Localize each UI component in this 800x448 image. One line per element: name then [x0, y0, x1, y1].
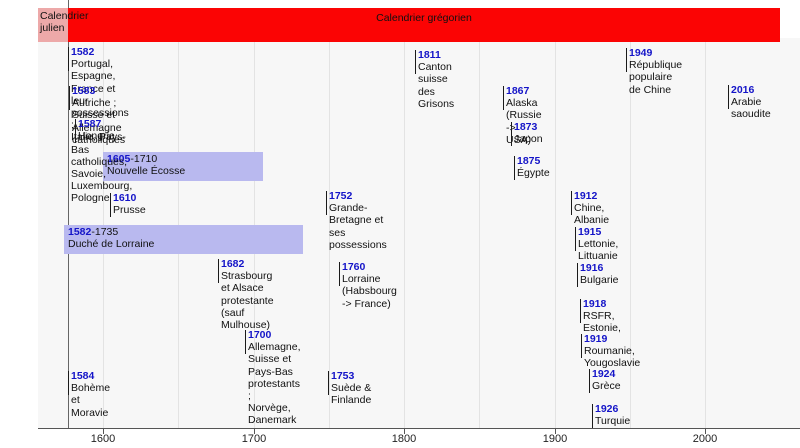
x-axis-line — [38, 428, 800, 429]
event-year: 1811 — [418, 49, 441, 61]
gridline-1900 — [555, 38, 556, 428]
event-marker-stem — [589, 369, 590, 393]
event-year: 1875 — [517, 155, 540, 167]
x-tick-label-1900: 1900 — [543, 433, 567, 445]
event-description: Strasbourg et Alsace protestante (sauf M… — [221, 270, 274, 331]
range-bar[interactable]: 1582-1735 Duché de Lorraine — [64, 225, 303, 254]
event-marker-stem — [580, 299, 581, 323]
event-marker-stem — [511, 122, 512, 146]
gridline-1850 — [479, 38, 480, 428]
event-marker-stem — [69, 86, 70, 110]
event-label: 1919 Roumanie, Yougoslavie — [584, 333, 640, 370]
event-marker-stem — [110, 193, 111, 217]
event-year: 1700 — [248, 329, 271, 341]
event-description: Bulgarie — [580, 274, 619, 286]
event-label: 1760 Lorraine (Habsbourg -> France) — [342, 261, 397, 310]
event-year: 1915 — [578, 226, 601, 238]
range-start-year: 1582 — [68, 226, 91, 238]
event-marker-stem — [245, 330, 246, 354]
event-year: 1919 — [584, 333, 607, 345]
event-marker-stem — [575, 227, 576, 251]
event-label: 1924 Grèce — [592, 368, 621, 392]
x-tick-label-1700: 1700 — [242, 433, 266, 445]
gridline-2000 — [705, 38, 706, 428]
event-description: Arabie saoudite — [731, 96, 771, 120]
event-marker-stem — [415, 50, 416, 74]
event-label: 1915 Lettonie, Littuanie — [578, 226, 618, 263]
event-year: 2016 — [731, 84, 754, 96]
event-marker-stem — [571, 191, 572, 215]
event-description: Grèce — [592, 380, 621, 392]
event-marker-stem — [581, 334, 582, 358]
event-marker-stem — [592, 404, 593, 428]
event-label: 1811 Canton suisse des Grisons — [418, 49, 454, 110]
event-year: 1753 — [331, 370, 354, 382]
event-marker-stem — [514, 156, 515, 180]
event-year: 1760 — [342, 261, 365, 273]
event-label: 1949 République populaire de Chine — [629, 47, 682, 96]
event-description: Bohème et Moravie — [71, 382, 110, 418]
event-label: 1918 RSFR, Estonie, — [583, 298, 621, 335]
event-label: 1610 Prusse — [113, 192, 146, 216]
event-label: 1753 Suède & Finlande — [331, 370, 371, 407]
event-label: 1682 Strasbourg et Alsace protestante (s… — [221, 258, 274, 331]
event-year: 1584 — [71, 370, 94, 382]
event-year: 1918 — [583, 298, 606, 310]
range-label: 1582-1735 Duché de Lorraine — [68, 226, 154, 250]
event-year: 1912 — [574, 190, 597, 202]
event-marker-stem — [503, 86, 504, 110]
event-label: 1875 Égypte — [517, 155, 550, 179]
event-description: Turquie — [595, 415, 630, 427]
event-marker-stem — [577, 263, 578, 287]
event-label: 1926 Turquie — [595, 403, 630, 427]
event-label: 1916 Bulgarie — [580, 262, 619, 286]
event-year: 1926 — [595, 403, 618, 415]
event-year: 1752 — [329, 190, 352, 202]
event-description: Canton suisse des Grisons — [418, 61, 454, 110]
event-label: 2016 Arabie saoudite — [731, 84, 771, 121]
event-description: Lorraine (Habsbourg -> France) — [342, 273, 397, 309]
event-description: Prusse — [113, 204, 146, 216]
event-description: Lettonie, Littuanie — [578, 238, 618, 262]
event-year: 1916 — [580, 262, 603, 274]
calendar-band-gregorian-label: Calendrier grégorien — [68, 12, 780, 24]
event-description: Chine, Albanie — [574, 202, 609, 226]
event-description: RSFR, Estonie, — [583, 310, 621, 334]
event-marker-stem — [339, 262, 340, 286]
event-label: 1584 Bohème et Moravie — [71, 370, 110, 419]
event-year: 1924 — [592, 368, 615, 380]
event-description: Roumanie, Yougoslavie — [584, 345, 640, 369]
event-year: 1682 — [221, 258, 244, 270]
event-year: 1873 — [514, 121, 537, 133]
event-label: 1912 Chine, Albanie — [574, 190, 609, 227]
x-tick-label-2000: 2000 — [693, 433, 717, 445]
event-label: 1873 Japon — [514, 121, 543, 145]
event-description: Japon — [514, 133, 543, 145]
event-year: 1610 — [113, 192, 136, 204]
event-label: 1752 Grande-Bretagne et ses possessions — [329, 190, 387, 251]
event-description: Allemagne, Suisse et Pays-Bas protestant… — [248, 341, 301, 426]
event-label: 1700 Allemagne, Suisse et Pays-Bas prote… — [248, 329, 301, 427]
gridline-1800 — [404, 38, 405, 428]
event-marker-stem — [326, 191, 327, 215]
event-marker-stem — [75, 119, 76, 143]
event-year: 1949 — [629, 47, 652, 59]
event-marker-stem — [218, 259, 219, 283]
event-year: 1587 — [78, 118, 101, 130]
event-description: Égypte — [517, 167, 550, 179]
timeline-figure: Calendrier julien Calendrier grégorien 1… — [0, 0, 800, 448]
x-tick-label-1800: 1800 — [392, 433, 416, 445]
event-marker-stem — [328, 371, 329, 395]
event-label: 1587 Hongrie — [78, 118, 115, 142]
event-marker-stem — [68, 371, 69, 395]
event-marker-stem — [68, 47, 69, 71]
event-year: 1867 — [506, 85, 529, 97]
event-marker-stem — [626, 48, 627, 72]
event-marker-stem — [728, 85, 729, 109]
event-year: 1582 — [71, 46, 94, 58]
event-year: 1583 — [72, 85, 95, 97]
event-description: République populaire de Chine — [629, 59, 682, 95]
event-description: Suède & Finlande — [331, 382, 371, 406]
event-description: Grande-Bretagne et ses possessions — [329, 202, 387, 251]
x-tick-label-1600: 1600 — [91, 433, 115, 445]
event-description: Hongrie — [78, 130, 115, 142]
